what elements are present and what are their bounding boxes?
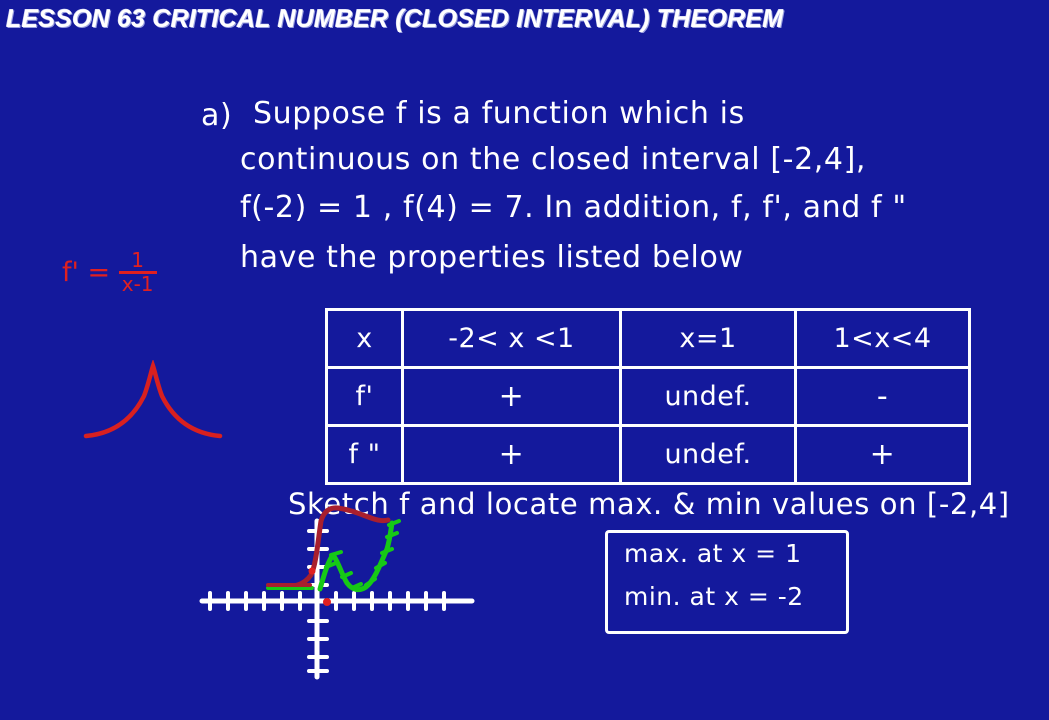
problem-line-1: Suppose f is a function which is — [253, 96, 745, 131]
fraction-numerator: 1 — [119, 250, 157, 271]
point-max — [309, 568, 316, 575]
table-cell-fdoubleprime-3: + — [796, 426, 970, 484]
derivative-annotation: f' = 1 x-1 — [62, 250, 157, 295]
table-header-interval-3: 1<x<4 — [796, 310, 970, 368]
answer-max: max. at x = 1 — [624, 539, 801, 568]
table-row-header: x -2< x <1 x=1 1<x<4 — [327, 310, 970, 368]
table-cell-fprime-1: + — [403, 368, 621, 426]
point-min — [323, 598, 331, 606]
table-row-label-fprime: f' — [327, 368, 403, 426]
table-header-interval-1: -2< x <1 — [403, 310, 621, 368]
derivative-annotation-lhs: f' = — [62, 257, 110, 288]
problem-line-4: have the properties listed below — [240, 240, 744, 275]
problem-line-2: continuous on the closed interval [-2,4]… — [240, 142, 866, 177]
table-cell-fdoubleprime-2: undef. — [621, 426, 796, 484]
problem-line-3: f(-2) = 1 , f(4) = 7. In addition, f, f'… — [240, 190, 907, 225]
problem-part-label: a) — [201, 98, 232, 133]
f-curve-green — [320, 521, 399, 590]
derivative-annotation-fraction: 1 x-1 — [119, 250, 157, 295]
f-curve-dark-red — [283, 508, 388, 587]
table-header-x: x — [327, 310, 403, 368]
flat-left-segment — [268, 585, 312, 588]
table-row: f' + undef. - — [327, 368, 970, 426]
derivative-sketch-curve — [78, 360, 228, 445]
fraction-denominator: x-1 — [119, 271, 157, 295]
answer-box: max. at x = 1 min. at x = -2 — [605, 530, 849, 634]
table-row: f " + undef. + — [327, 426, 970, 484]
table-header-interval-2: x=1 — [621, 310, 796, 368]
answer-min: min. at x = -2 — [624, 582, 804, 611]
x-axis — [202, 593, 472, 609]
graph-sketch — [190, 505, 490, 685]
table-row-label-fdoubleprime: f " — [327, 426, 403, 484]
sign-analysis-table: x -2< x <1 x=1 1<x<4 f' + undef. - f " +… — [325, 308, 956, 473]
table-cell-fprime-2: undef. — [621, 368, 796, 426]
table-cell-fdoubleprime-1: + — [403, 426, 621, 484]
table-cell-fprime-3: - — [796, 368, 970, 426]
